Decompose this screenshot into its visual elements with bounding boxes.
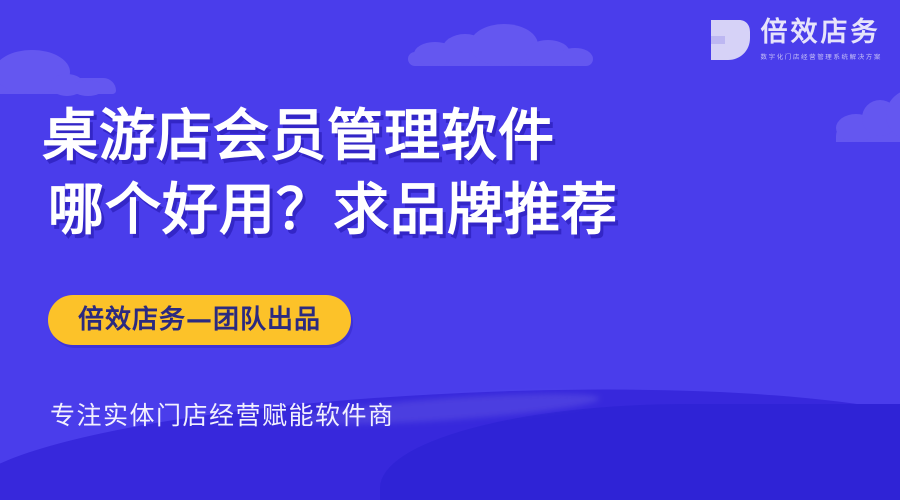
brand-logo: 倍效店务 数字化门店经营管理系统解决方案 xyxy=(709,18,883,62)
page-title: 桌游店会员管理软件 哪个好用？求品牌推荐 xyxy=(42,100,842,249)
team-badge: 倍效店务—团队出品 xyxy=(48,295,351,345)
cloud-center-icon xyxy=(408,26,593,66)
promo-banner: 倍效店务 数字化门店经营管理系统解决方案 桌游店会员管理软件 哪个好用？求品牌推… xyxy=(0,0,900,500)
cloud-puff xyxy=(558,48,592,66)
team-badge-label: 倍效店务—团队出品 xyxy=(78,307,321,333)
tagline: 专注实体门店经营赋能软件商 xyxy=(50,396,395,432)
headline-line-1: 桌游店会员管理软件 xyxy=(42,100,842,174)
logo-wordmark: 倍效店务 xyxy=(761,19,883,47)
headline-line-2: 哪个好用？求品牌推荐 xyxy=(42,174,842,248)
cloud-right-icon xyxy=(836,92,900,142)
shield-d-logo-icon xyxy=(709,18,751,62)
cloud-puff xyxy=(72,80,104,96)
cloud-puff xyxy=(470,24,538,66)
cloud-left-icon xyxy=(0,50,116,94)
logo-text-block: 倍效店务 数字化门店经营管理系统解决方案 xyxy=(761,19,883,60)
logo-subtitle: 数字化门店经营管理系统解决方案 xyxy=(761,51,883,61)
